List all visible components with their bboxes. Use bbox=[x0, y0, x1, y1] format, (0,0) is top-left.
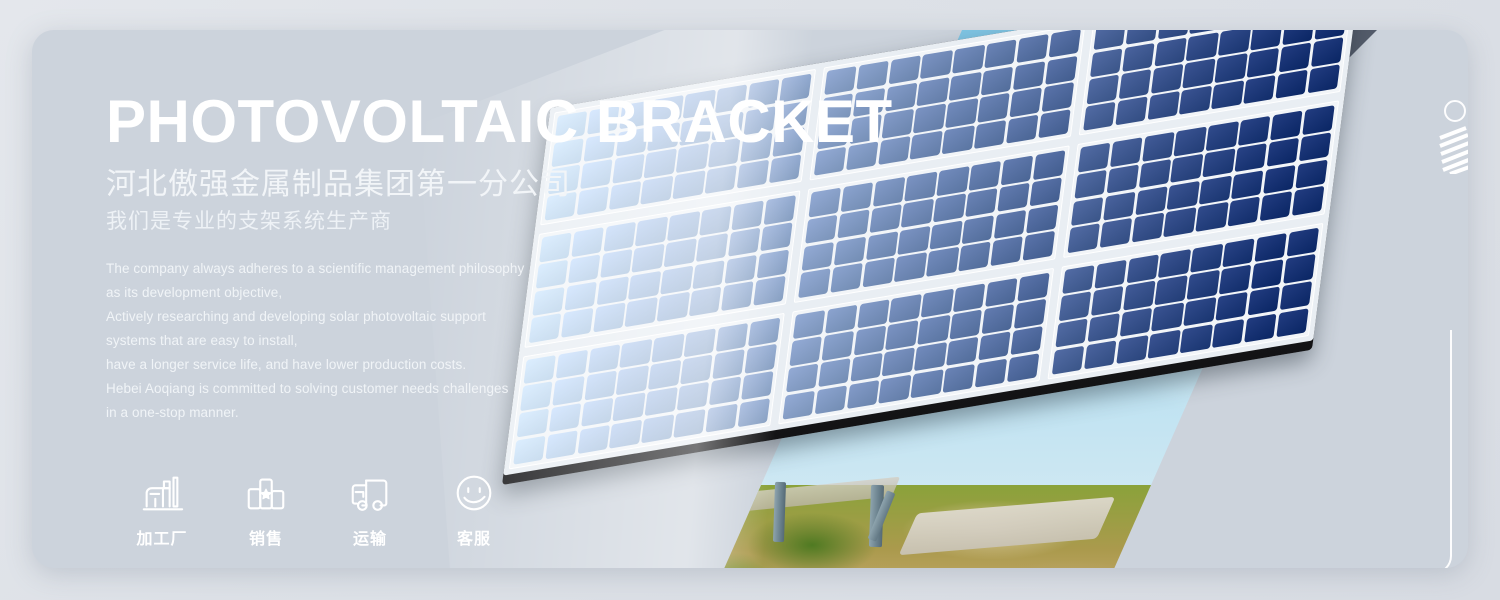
panel-cell bbox=[975, 358, 1008, 387]
panel-cell bbox=[805, 215, 838, 244]
panel-cell bbox=[716, 323, 749, 352]
panel-cell bbox=[984, 39, 1017, 68]
panel-cell bbox=[705, 165, 738, 194]
panel-cell bbox=[1062, 265, 1095, 294]
panel-cell bbox=[952, 45, 985, 74]
panel-cell bbox=[958, 242, 991, 271]
panel-cell bbox=[969, 161, 1002, 190]
page-title: PHOTOVOLTAIC BRACKET bbox=[106, 90, 666, 153]
panel-cell bbox=[856, 61, 889, 90]
panel-cell bbox=[753, 276, 786, 305]
panel-cell bbox=[721, 282, 754, 311]
panel-cell bbox=[1234, 143, 1267, 172]
panel-cell bbox=[696, 233, 729, 262]
panel-cell bbox=[1222, 238, 1255, 267]
panel-cell bbox=[1033, 150, 1066, 179]
panel-cell bbox=[1199, 175, 1232, 204]
panel-cell bbox=[1196, 202, 1229, 231]
panel-cell bbox=[1247, 287, 1280, 316]
description-line: Hebei Aoqiang is committed to solving cu… bbox=[106, 377, 666, 401]
panel-cell bbox=[744, 344, 777, 373]
panel-cell bbox=[913, 104, 946, 133]
panel-cell bbox=[1009, 88, 1042, 117]
panel-cell bbox=[664, 238, 697, 267]
panel-cell bbox=[1126, 254, 1159, 283]
description-line: Actively researching and developing sola… bbox=[106, 305, 666, 329]
panel-cell bbox=[930, 220, 963, 249]
panel-cell bbox=[1119, 308, 1152, 337]
panel-cell bbox=[1022, 231, 1055, 260]
panel-cell bbox=[873, 177, 906, 206]
truck-icon bbox=[347, 470, 393, 516]
panel-cell bbox=[667, 211, 700, 240]
panel-cell bbox=[921, 288, 954, 317]
panel-cell bbox=[1100, 218, 1133, 247]
circle-outline-icon bbox=[1444, 100, 1466, 122]
panel-cell bbox=[1247, 48, 1280, 77]
panel-cell bbox=[1045, 56, 1078, 85]
panel-cell bbox=[1190, 243, 1223, 272]
panel-cell bbox=[1038, 109, 1071, 138]
panel-cell bbox=[953, 283, 986, 312]
panel-cell bbox=[1187, 270, 1220, 299]
panel-cell bbox=[577, 425, 610, 454]
panel-cell bbox=[1016, 34, 1049, 63]
panel-cell bbox=[1211, 80, 1244, 109]
panel-cell bbox=[982, 305, 1015, 334]
panel-cell bbox=[769, 154, 802, 183]
panel-cell bbox=[1270, 111, 1303, 140]
panel-cell bbox=[1254, 233, 1287, 262]
panel-cell bbox=[1155, 276, 1188, 305]
panel-cell bbox=[1052, 345, 1085, 374]
panel-cell bbox=[783, 390, 816, 419]
panel-cell bbox=[1283, 254, 1316, 283]
panel-cell bbox=[910, 131, 943, 160]
panel-cell bbox=[1122, 43, 1155, 72]
feature-item[interactable]: 销售 bbox=[214, 470, 318, 549]
panel-cell bbox=[1279, 281, 1312, 310]
panel-cell bbox=[1055, 319, 1088, 348]
panel-cell bbox=[869, 204, 902, 233]
panel-cell bbox=[834, 236, 867, 265]
panel-cell bbox=[673, 170, 706, 199]
panel-cell bbox=[1170, 154, 1203, 183]
panel-cell bbox=[994, 210, 1027, 239]
diagonal-stripes-icon bbox=[1436, 126, 1468, 174]
panel-cell bbox=[756, 249, 789, 278]
panel-cell bbox=[1151, 64, 1184, 93]
corner-bracket-decoration bbox=[1160, 330, 1452, 568]
panel-cell bbox=[1263, 165, 1296, 194]
panel-cell bbox=[1087, 75, 1120, 104]
factory-icon bbox=[139, 470, 185, 516]
panel-cell bbox=[798, 269, 831, 298]
description-line: as its development objective, bbox=[106, 281, 666, 305]
description-line: systems that are easy to install, bbox=[106, 329, 666, 353]
panel-cell bbox=[1299, 132, 1332, 161]
panel-cell bbox=[945, 99, 978, 128]
panel-cell bbox=[918, 315, 951, 344]
panel-cell bbox=[1123, 281, 1156, 310]
panel-cell bbox=[1219, 265, 1252, 294]
panel-cell bbox=[1006, 115, 1039, 144]
company-tagline: 我们是专业的支架系统生产商 bbox=[106, 205, 666, 235]
panel-cell bbox=[789, 337, 822, 366]
feature-label: 客服 bbox=[457, 525, 491, 549]
panel-cell bbox=[1206, 122, 1239, 151]
panel-cell bbox=[898, 226, 931, 255]
panel-cell bbox=[950, 310, 983, 339]
panel-cell bbox=[1279, 43, 1312, 72]
panel-cell bbox=[809, 188, 842, 217]
panel-cell bbox=[1158, 249, 1191, 278]
panel-cell bbox=[911, 369, 944, 398]
panel-cell bbox=[1026, 204, 1059, 233]
description-line: have a longer service life, and have low… bbox=[106, 353, 666, 377]
panel-cell bbox=[741, 371, 774, 400]
panel-cell bbox=[1135, 186, 1168, 215]
panel-cell bbox=[1074, 170, 1107, 199]
panel-cell bbox=[1186, 32, 1219, 61]
panel-cell bbox=[857, 299, 890, 328]
panel-cell bbox=[728, 228, 761, 257]
panel-cell bbox=[1106, 164, 1139, 193]
panel-cell bbox=[793, 310, 826, 339]
panel-cell bbox=[1179, 86, 1212, 115]
feature-list: 加工厂销售运输客服 bbox=[110, 470, 526, 549]
panel-cell bbox=[1292, 186, 1325, 215]
panel-cell bbox=[977, 93, 1010, 122]
panel-cell bbox=[825, 304, 858, 333]
panel-cell bbox=[1103, 191, 1136, 220]
panel-cell bbox=[1147, 91, 1180, 120]
panel-cell bbox=[885, 321, 918, 350]
panel-cell bbox=[692, 260, 725, 289]
panel-cell bbox=[1311, 38, 1344, 67]
panel-cell bbox=[1215, 292, 1248, 321]
feature-item[interactable]: 客服 bbox=[422, 470, 526, 549]
panel-cell bbox=[850, 353, 883, 382]
panel-cell bbox=[1295, 159, 1328, 188]
panel-cell bbox=[1202, 148, 1235, 177]
panel-cell bbox=[1215, 54, 1248, 83]
panel-cell bbox=[937, 166, 970, 195]
panel-cell bbox=[889, 294, 922, 323]
panel-cell bbox=[990, 237, 1023, 266]
panel-cell bbox=[1110, 138, 1143, 167]
panel-cell bbox=[1071, 197, 1104, 226]
panel-cell bbox=[748, 317, 781, 346]
panel-cell bbox=[847, 380, 880, 409]
panel-cell bbox=[1238, 116, 1271, 145]
panel-cell bbox=[962, 215, 995, 244]
panel-cell bbox=[1251, 260, 1284, 289]
panel-cell bbox=[673, 409, 706, 438]
panel-cell bbox=[786, 364, 819, 393]
panel-cell bbox=[1087, 313, 1120, 342]
panel-cell bbox=[545, 430, 578, 459]
company-name: 河北傲强金属制品集团第一分公司 bbox=[106, 159, 666, 203]
panel-cell bbox=[866, 231, 899, 260]
panel-cell bbox=[985, 278, 1018, 307]
panel-cell bbox=[841, 183, 874, 212]
panel-cell bbox=[1151, 303, 1184, 332]
panel-cell bbox=[830, 263, 863, 292]
podium-star-icon bbox=[243, 470, 289, 516]
panel-cell bbox=[689, 287, 722, 316]
panel-cell bbox=[888, 55, 921, 84]
panel-cell bbox=[760, 222, 793, 251]
feature-label: 加工厂 bbox=[136, 525, 187, 549]
panel-cell bbox=[853, 326, 886, 355]
panel-cell bbox=[1302, 105, 1335, 134]
panel-cell bbox=[862, 258, 895, 287]
panel-cell bbox=[1014, 299, 1047, 328]
panel-cell bbox=[1267, 138, 1300, 167]
panel-cell bbox=[978, 331, 1011, 360]
panel-cell bbox=[1115, 96, 1148, 125]
panel-cell bbox=[709, 376, 742, 405]
panel-cell bbox=[821, 331, 854, 360]
panel-cell bbox=[920, 50, 953, 79]
panel-cell bbox=[1142, 132, 1175, 161]
panel-cell bbox=[1083, 102, 1116, 131]
panel-cell bbox=[1048, 30, 1081, 58]
panel-cell bbox=[1164, 208, 1197, 237]
panel-cell bbox=[705, 403, 738, 432]
panel-cell bbox=[837, 209, 870, 238]
panel-cell bbox=[731, 201, 764, 230]
panel-cell bbox=[1243, 75, 1276, 104]
panel-cell bbox=[1138, 159, 1171, 188]
panel-cell bbox=[1154, 37, 1187, 66]
panel-cell bbox=[1183, 59, 1216, 88]
panel-cell bbox=[1029, 177, 1062, 206]
panel-cell bbox=[1078, 143, 1111, 172]
panel-cell bbox=[997, 183, 1030, 212]
description-line: in a one-stop manner. bbox=[106, 401, 666, 425]
panel-cell bbox=[905, 172, 938, 201]
panel-cell bbox=[1017, 272, 1050, 301]
panel-cell bbox=[763, 195, 796, 224]
panel-cell bbox=[1228, 197, 1261, 226]
panel-cell bbox=[1231, 170, 1264, 199]
panel-cell bbox=[1007, 353, 1040, 382]
panel-cell bbox=[901, 199, 934, 228]
panel-cell bbox=[1286, 227, 1319, 256]
panel-cell bbox=[802, 242, 835, 271]
panel-cell bbox=[1307, 64, 1340, 93]
panel-cell bbox=[737, 398, 770, 427]
panel-cell bbox=[1084, 340, 1117, 369]
panel-cell bbox=[981, 66, 1014, 95]
panel-cell bbox=[1041, 82, 1074, 111]
panel-cell bbox=[1059, 292, 1092, 321]
panel-cell bbox=[1094, 259, 1127, 288]
panel-cell bbox=[946, 337, 979, 366]
panel-cell bbox=[1167, 181, 1200, 210]
panel-cell bbox=[894, 253, 927, 282]
panel-cell bbox=[1091, 286, 1124, 315]
feature-item[interactable]: 运输 bbox=[318, 470, 422, 549]
panel-cell bbox=[926, 247, 959, 276]
panel-cell bbox=[949, 72, 982, 101]
panel-cell bbox=[974, 120, 1007, 149]
panel-cell bbox=[1067, 224, 1100, 253]
feature-label: 运输 bbox=[353, 525, 387, 549]
panel-cell bbox=[914, 342, 947, 371]
panel-cell bbox=[1183, 297, 1216, 326]
panel-cell bbox=[933, 193, 966, 222]
panel-cell bbox=[1218, 30, 1251, 56]
panel-cell bbox=[724, 255, 757, 284]
panel-cell bbox=[737, 160, 770, 189]
company-description: The company always adheres to a scientif… bbox=[106, 257, 666, 425]
panel-cell bbox=[684, 328, 717, 357]
panel-cell bbox=[712, 350, 745, 379]
banner-card: PHOTOVOLTAIC BRACKET 河北傲强金属制品集团第一分公司 我们是… bbox=[32, 30, 1468, 568]
panel-cell bbox=[1174, 127, 1207, 156]
panel-cell bbox=[917, 77, 950, 106]
panel-cell bbox=[1116, 335, 1149, 364]
panel-cell bbox=[680, 355, 713, 384]
panel-cell bbox=[1132, 213, 1165, 242]
panel-cell bbox=[965, 188, 998, 217]
banner-text-block: PHOTOVOLTAIC BRACKET 河北傲强金属制品集团第一分公司 我们是… bbox=[106, 90, 666, 425]
panel-cell bbox=[815, 385, 848, 414]
panel-cell bbox=[699, 206, 732, 235]
panel-cell bbox=[1001, 156, 1034, 185]
photovoltaic-bracket-banner: PHOTOVOLTAIC BRACKET 河北傲强金属制品集团第一分公司 我们是… bbox=[0, 0, 1500, 600]
feature-label: 销售 bbox=[249, 525, 283, 549]
panel-cell bbox=[1010, 326, 1043, 355]
panel-cell bbox=[1013, 61, 1046, 90]
panel-cell bbox=[879, 374, 912, 403]
panel-cell bbox=[942, 125, 975, 154]
panel-cell bbox=[513, 435, 546, 464]
feature-item[interactable]: 加工厂 bbox=[110, 470, 214, 549]
panel-cell bbox=[882, 348, 915, 377]
panel-cell bbox=[1090, 48, 1123, 77]
panel-cell bbox=[1119, 70, 1152, 99]
panel-cell bbox=[1260, 192, 1293, 221]
panel-cell bbox=[1093, 30, 1126, 50]
panel-cell bbox=[943, 364, 976, 393]
description-line: The company always adheres to a scientif… bbox=[106, 257, 666, 281]
panel-cell bbox=[818, 358, 851, 387]
smiley-face-icon bbox=[451, 470, 497, 516]
panel-cell bbox=[1275, 70, 1308, 99]
panel-cell bbox=[677, 382, 710, 411]
